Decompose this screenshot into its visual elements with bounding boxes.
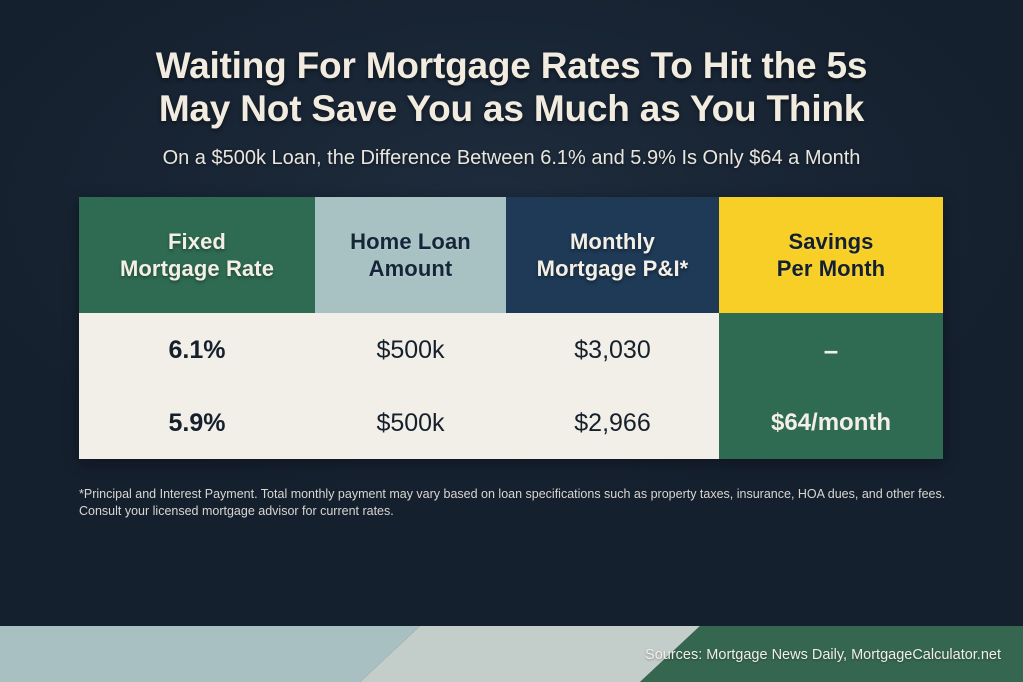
header-line-2: Mortgage Rate [79,255,315,282]
title-block: Waiting For Mortgage Rates To Hit the 5s… [0,44,1023,170]
header-line-1: Savings [719,228,943,255]
table-row: 6.1% $500k $3,030 – [79,313,943,386]
cell-savings: – [719,313,943,386]
header-line-1: Monthly [506,228,719,255]
cell-loan-amount: $500k [315,386,506,459]
title-line-1: Waiting For Mortgage Rates To Hit the 5s [0,44,1023,87]
cell-monthly-payment: $3,030 [506,313,719,386]
header-line-1: Fixed [79,228,315,255]
cell-loan-amount: $500k [315,313,506,386]
header-line-2: Mortgage P&I* [506,255,719,282]
header-line-2: Amount [315,255,506,282]
title-line-2: May Not Save You as Much as You Think [0,87,1023,130]
table-header-savings-per-month: Savings Per Month [719,197,943,313]
table-header-fixed-mortgage-rate: Fixed Mortgage Rate [79,197,315,313]
footnote-text: *Principal and Interest Payment. Total m… [79,486,954,520]
subtitle: On a $500k Loan, the Difference Between … [0,146,1023,170]
cell-savings: $64/month [719,386,943,459]
mortgage-comparison-table: Fixed Mortgage Rate Home Loan Amount Mon… [79,197,943,459]
table-header-home-loan-amount: Home Loan Amount [315,197,506,313]
cell-rate: 5.9% [79,386,315,459]
table-row: 5.9% $500k $2,966 $64/month [79,386,943,459]
sources-text: Sources: Mortgage News Daily, MortgageCa… [645,646,1001,664]
cell-rate: 6.1% [79,313,315,386]
cell-monthly-payment: $2,966 [506,386,719,459]
band-shape-blue [0,626,420,682]
table-header-monthly-mortgage-pi: Monthly Mortgage P&I* [506,197,719,313]
header-line-1: Home Loan [315,228,506,255]
table-header-row: Fixed Mortgage Rate Home Loan Amount Mon… [79,197,943,313]
header-line-2: Per Month [719,255,943,282]
